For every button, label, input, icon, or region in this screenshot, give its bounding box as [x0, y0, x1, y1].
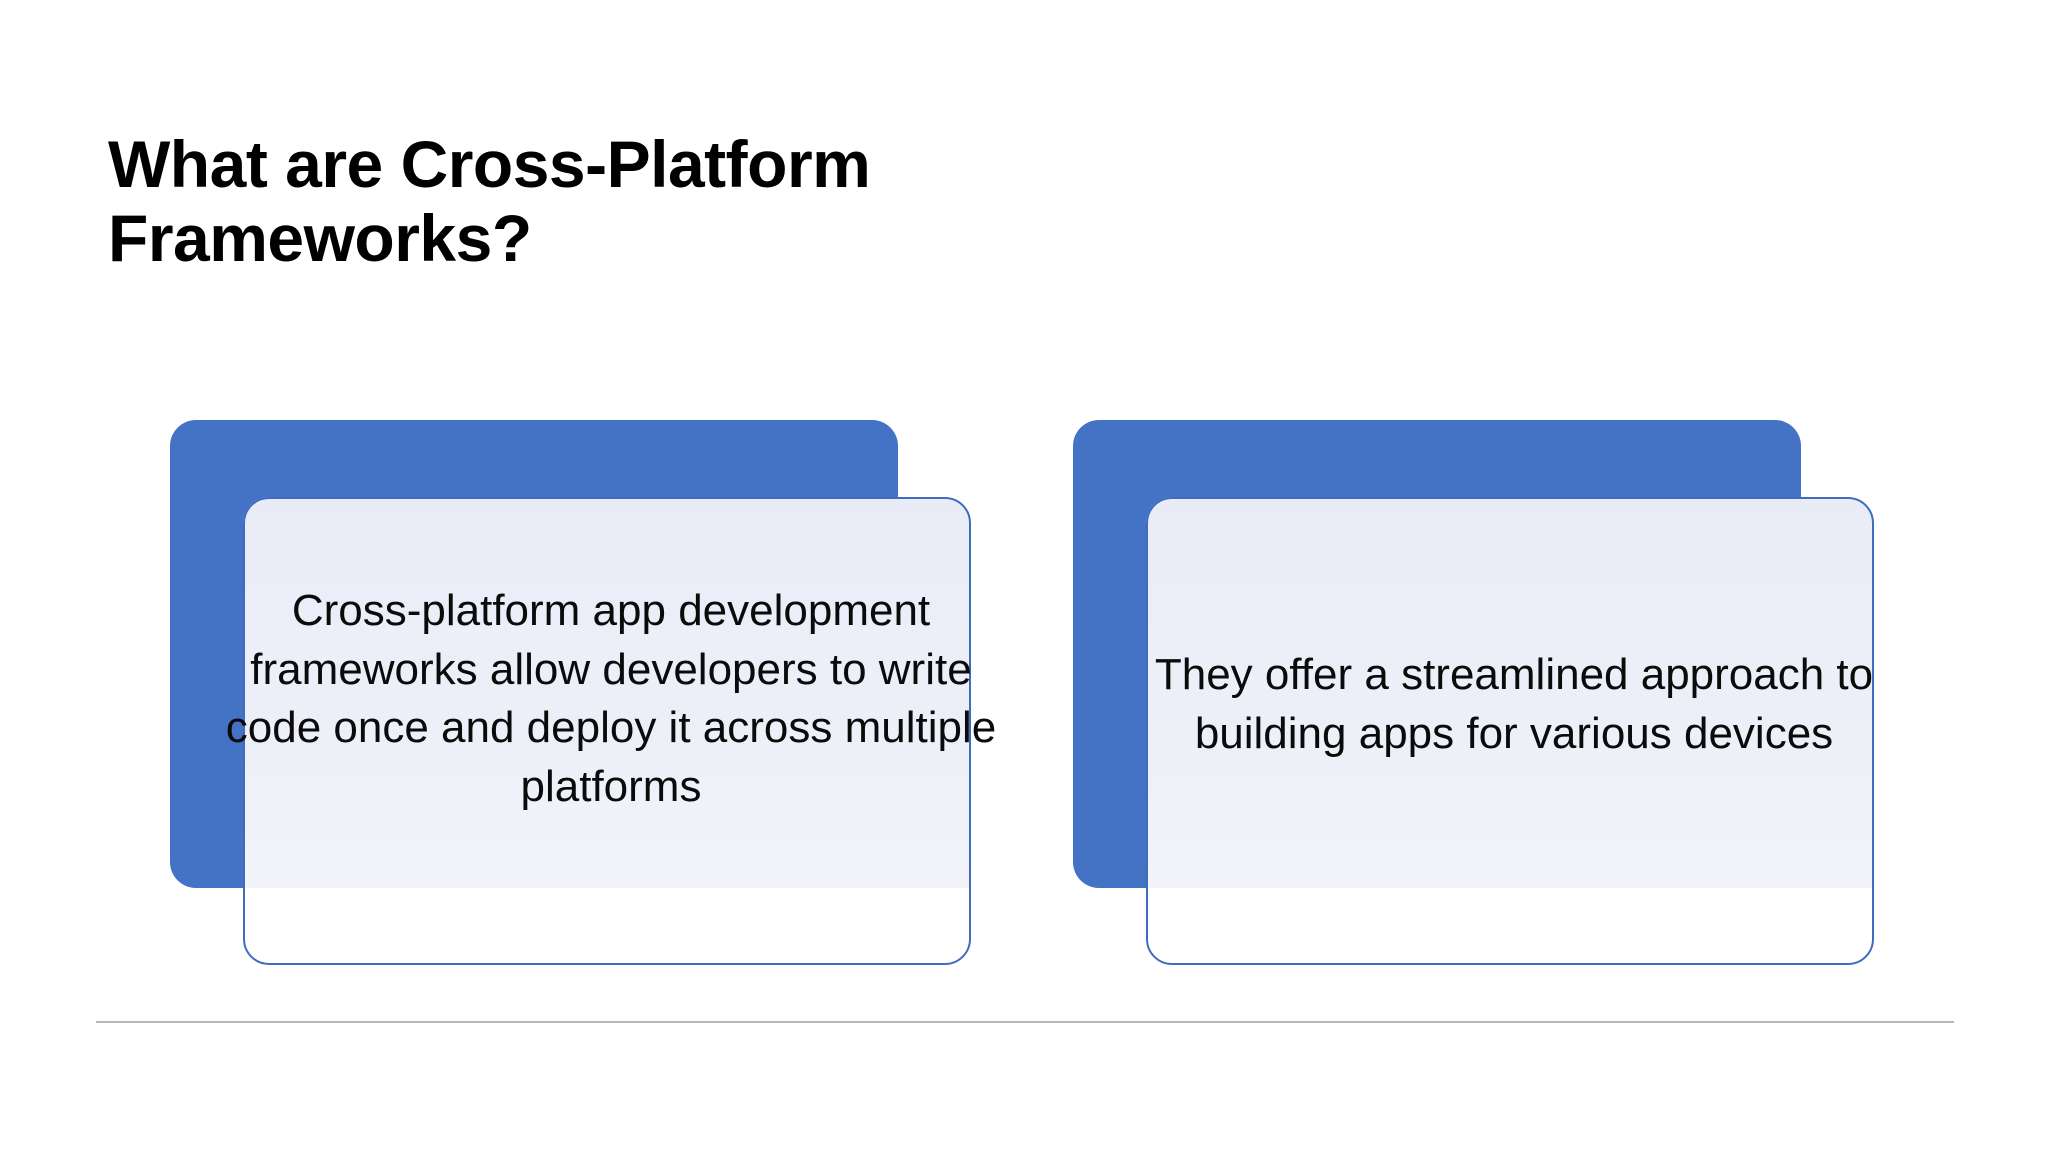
footer-divider	[96, 1021, 1954, 1023]
slide-canvas: What are Cross-Platform Frameworks? Cros…	[0, 0, 2048, 1152]
card-2-text: They offer a streamlined approach to bui…	[1119, 646, 1909, 763]
card-1-text: Cross-platform app development framework…	[216, 582, 1006, 816]
cards-container: Cross-platform app development framework…	[0, 0, 2048, 1152]
